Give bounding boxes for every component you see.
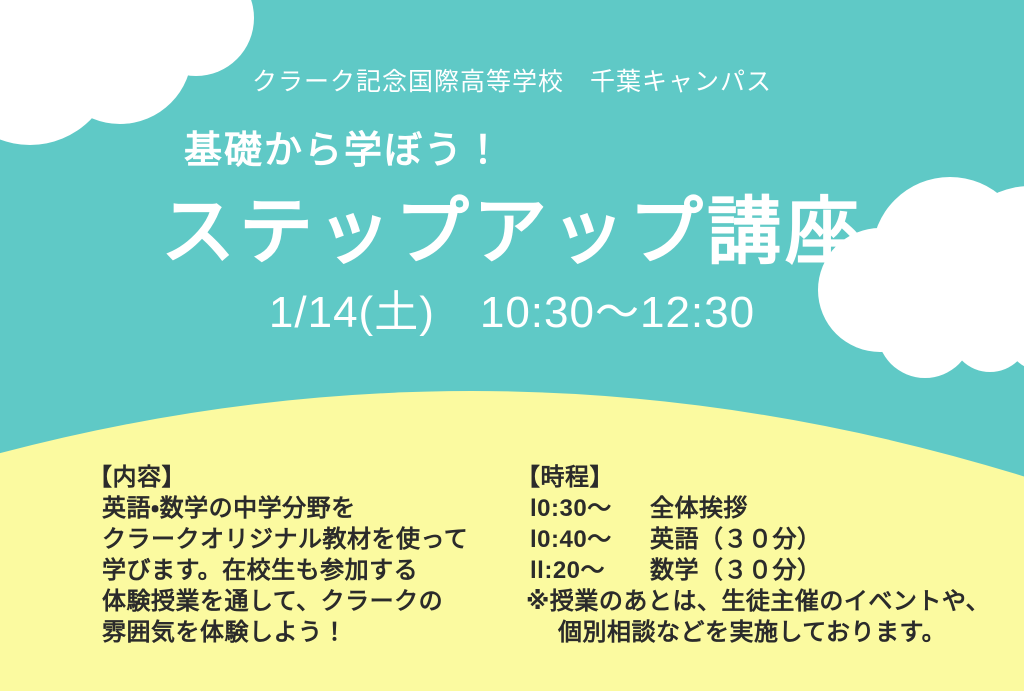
schedule-row: ll:20〜数学（３０分） [516,555,990,586]
schedule-label: 全体挨拶 [650,495,748,522]
content-line: 英語・数学の中学分野を [88,493,468,524]
schedule-time: ll:20〜 [530,555,650,586]
schedule-label: 英語（３０分） [650,526,822,553]
page-title: ステップアップ講座 [0,172,1024,279]
schedule-time: l0:30〜 [530,493,650,524]
schedule-row: l0:30〜全体挨拶 [516,493,990,524]
schedule-row: l0:40〜英語（３０分） [516,524,990,555]
schedule-label: 数学（３０分） [650,557,822,584]
poster-canvas: クラーク記念国際高等学校 千葉キャンパス 基礎から学ぼう！ ステップアップ講座 … [0,0,1024,691]
schedule-heading: 【時程】 [516,462,990,493]
lead-headline: 基礎から学ぼう！ [0,119,856,174]
content-line: 学びます。在校生も参加する [88,555,468,586]
content-heading: 【内容】 [88,462,468,493]
schedule-block: 【時程】 l0:30〜全体挨拶 l0:40〜英語（３０分） ll:20〜数学（３… [516,462,990,648]
schedule-note: 個別相談などを実施しております。 [516,617,990,648]
event-datetime: 1/14(土) 10:30〜12:30 [0,276,1024,340]
content-line: 体験授業を通して、クラークの [88,586,468,617]
schedule-time: l0:40〜 [530,524,650,555]
content-line: 雰囲気を体験しよう！ [88,617,468,648]
content-block: 【内容】 英語・数学の中学分野を クラークオリジナル教材を使って 学びます。在校… [88,462,468,648]
schedule-note: ※授業のあとは、生徒主催のイベントや、 [516,586,990,617]
school-name: クラーク記念国際高等学校 千葉キャンパス [0,62,1024,98]
content-line: クラークオリジナル教材を使って [88,524,468,555]
